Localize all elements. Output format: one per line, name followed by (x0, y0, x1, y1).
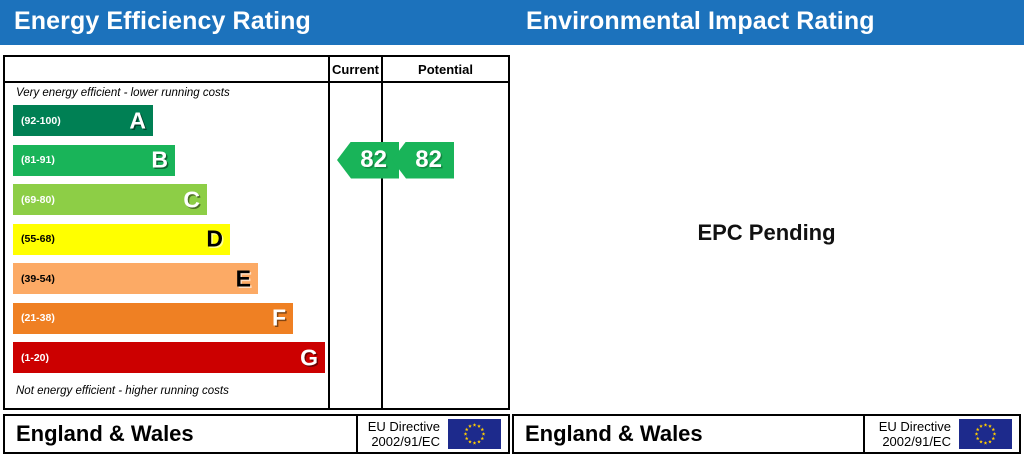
column-header-potential: Potential (383, 59, 508, 81)
footer-directive: EU Directive 2002/91/EC (368, 419, 440, 449)
environmental-panel-footer: England & Wales EU Directive 2002/91/EC (512, 414, 1021, 454)
table-header-rule (5, 81, 508, 83)
band-letter-label: C (183, 188, 200, 211)
band-letter-label: F (272, 307, 286, 330)
rating-band-a: (92-100)A (13, 105, 153, 136)
footer-divider (863, 416, 865, 452)
band-letter-label: B (151, 149, 168, 172)
column-divider-current (328, 57, 330, 408)
footer-directive-line1: EU Directive (879, 419, 951, 434)
potential-rating-value: 82 (415, 148, 442, 172)
energy-efficiency-panel: Energy Efficiency Rating Current Potenti… (0, 0, 512, 457)
rating-bands: (92-100)A(81-91)B(69-80)C(55-68)D(39-54)… (5, 105, 328, 381)
environmental-impact-panel: Environmental Impact Rating EPC Pending … (512, 0, 1024, 457)
band-letter-label: G (300, 346, 318, 369)
band-range-label: (21-38) (21, 313, 55, 324)
epc-certificate: Energy Efficiency Rating Current Potenti… (0, 0, 1024, 457)
band-letter-label: A (129, 109, 146, 132)
eu-flag-icon (447, 418, 502, 450)
environmental-rating-area: EPC Pending (512, 55, 1021, 410)
energy-panel-header: Energy Efficiency Rating (0, 0, 512, 45)
current-rating-arrow: 82 (337, 142, 399, 179)
column-header-current: Current (330, 59, 381, 81)
band-letter-label: E (236, 267, 251, 290)
footer-region-label: England & Wales (16, 421, 194, 447)
rating-band-f: (21-38)F (13, 303, 293, 334)
footer-divider (356, 416, 358, 452)
energy-panel-title: Energy Efficiency Rating (14, 7, 311, 36)
footer-region-label: England & Wales (525, 421, 703, 447)
environmental-panel-header: Environmental Impact Rating (512, 0, 1024, 45)
environmental-panel-title: Environmental Impact Rating (526, 7, 875, 36)
energy-panel-footer: England & Wales EU Directive 2002/91/EC (3, 414, 510, 454)
caption-very-efficient: Very energy efficient - lower running co… (16, 87, 230, 99)
epc-pending-message: EPC Pending (512, 55, 1021, 410)
potential-rating-arrow: 82 (392, 142, 454, 179)
band-range-label: (81-91) (21, 155, 55, 166)
column-divider-potential (381, 57, 383, 408)
rating-band-e: (39-54)E (13, 263, 258, 294)
band-range-label: (92-100) (21, 115, 61, 126)
band-range-label: (69-80) (21, 194, 55, 205)
rating-band-b: (81-91)B (13, 145, 175, 176)
band-range-label: (39-54) (21, 273, 55, 284)
eu-flag-icon (958, 418, 1013, 450)
rating-band-g: (1-20)G (13, 342, 325, 373)
rating-band-d: (55-68)D (13, 224, 230, 255)
footer-directive-line2: 2002/91/EC (879, 434, 951, 449)
rating-band-c: (69-80)C (13, 184, 207, 215)
footer-directive-line1: EU Directive (368, 419, 440, 434)
band-letter-label: D (206, 228, 223, 251)
footer-directive-line2: 2002/91/EC (368, 434, 440, 449)
energy-rating-table: Current Potential Very energy efficient … (3, 55, 510, 410)
band-range-label: (1-20) (21, 352, 49, 363)
footer-directive: EU Directive 2002/91/EC (879, 419, 951, 449)
band-range-label: (55-68) (21, 234, 55, 245)
caption-not-efficient: Not energy efficient - higher running co… (16, 385, 229, 397)
current-rating-value: 82 (360, 148, 387, 172)
